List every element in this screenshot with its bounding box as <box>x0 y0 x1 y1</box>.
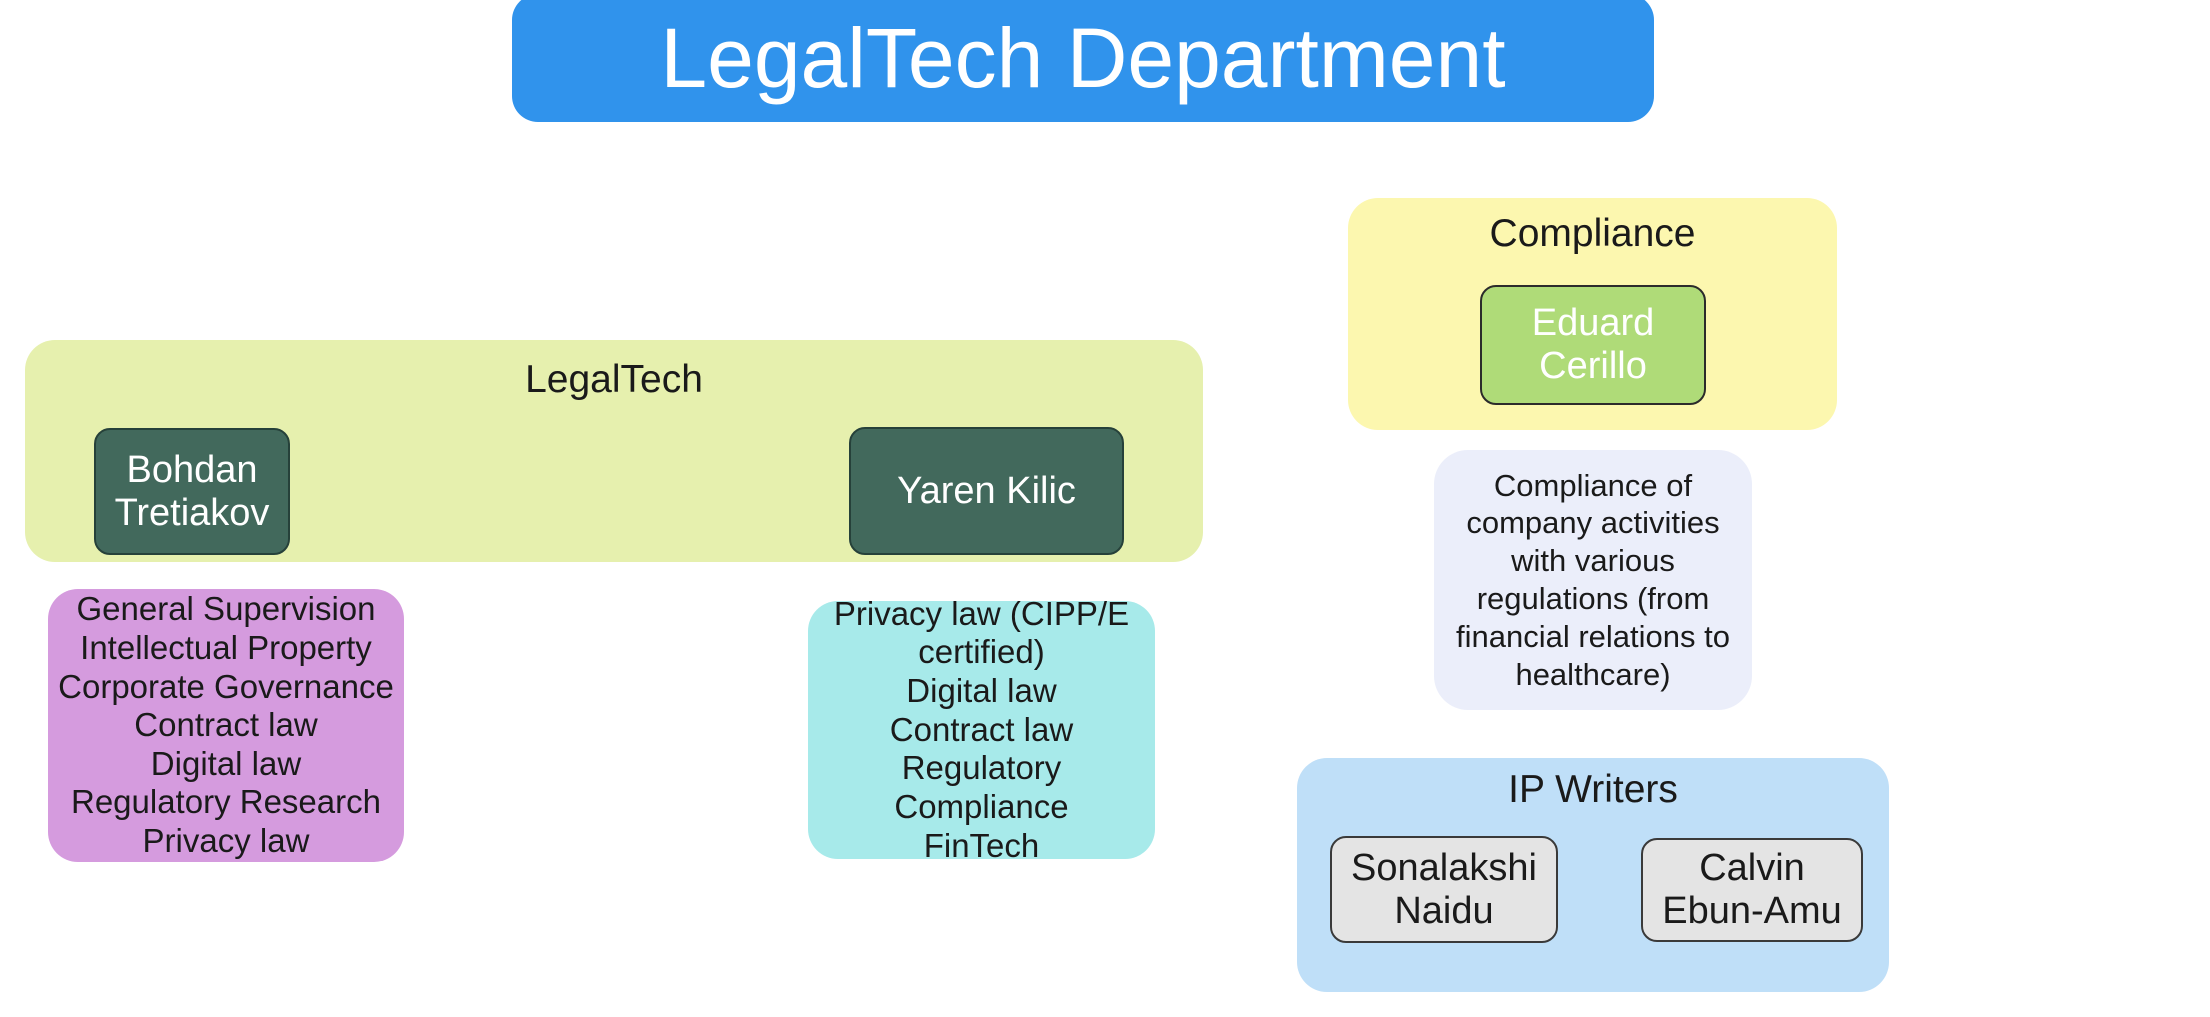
skills-note-bohdan-tretiakov: General Supervision Intellectual Propert… <box>48 589 404 862</box>
group-legaltech-label: LegalTech <box>25 360 1203 401</box>
person-name: Sonalakshi Naidu <box>1351 847 1537 932</box>
person-name: Yaren Kilic <box>897 470 1076 513</box>
group-ip-writers-label: IP Writers <box>1297 770 1889 811</box>
skills-list: General Supervision Intellectual Propert… <box>58 590 394 860</box>
skills-list: Privacy law (CIPP/E certified) Digital l… <box>818 595 1145 865</box>
group-compliance-label: Compliance <box>1348 214 1837 255</box>
person-card-sonalakshi-naidu[interactable]: Sonalakshi Naidu <box>1330 836 1558 943</box>
diagram-canvas: LegalTech Department LegalTech Bohdan Tr… <box>0 0 2210 1017</box>
person-card-eduard-cerillo[interactable]: Eduard Cerillo <box>1480 285 1706 405</box>
department-title-banner: LegalTech Department <box>512 0 1654 122</box>
person-card-yaren-kilic[interactable]: Yaren Kilic <box>849 427 1124 555</box>
description-note-compliance: Compliance of company activities with va… <box>1434 450 1752 710</box>
page-title: LegalTech Department <box>660 16 1505 100</box>
person-name: Bohdan Tretiakov <box>115 449 270 534</box>
person-card-calvin-ebun-amu[interactable]: Calvin Ebun-Amu <box>1641 838 1863 942</box>
description-text: Compliance of company activities with va… <box>1456 467 1730 694</box>
person-name: Calvin Ebun-Amu <box>1662 847 1842 932</box>
skills-note-yaren-kilic: Privacy law (CIPP/E certified) Digital l… <box>808 601 1155 859</box>
person-name: Eduard Cerillo <box>1532 302 1655 387</box>
person-card-bohdan-tretiakov[interactable]: Bohdan Tretiakov <box>94 428 290 555</box>
